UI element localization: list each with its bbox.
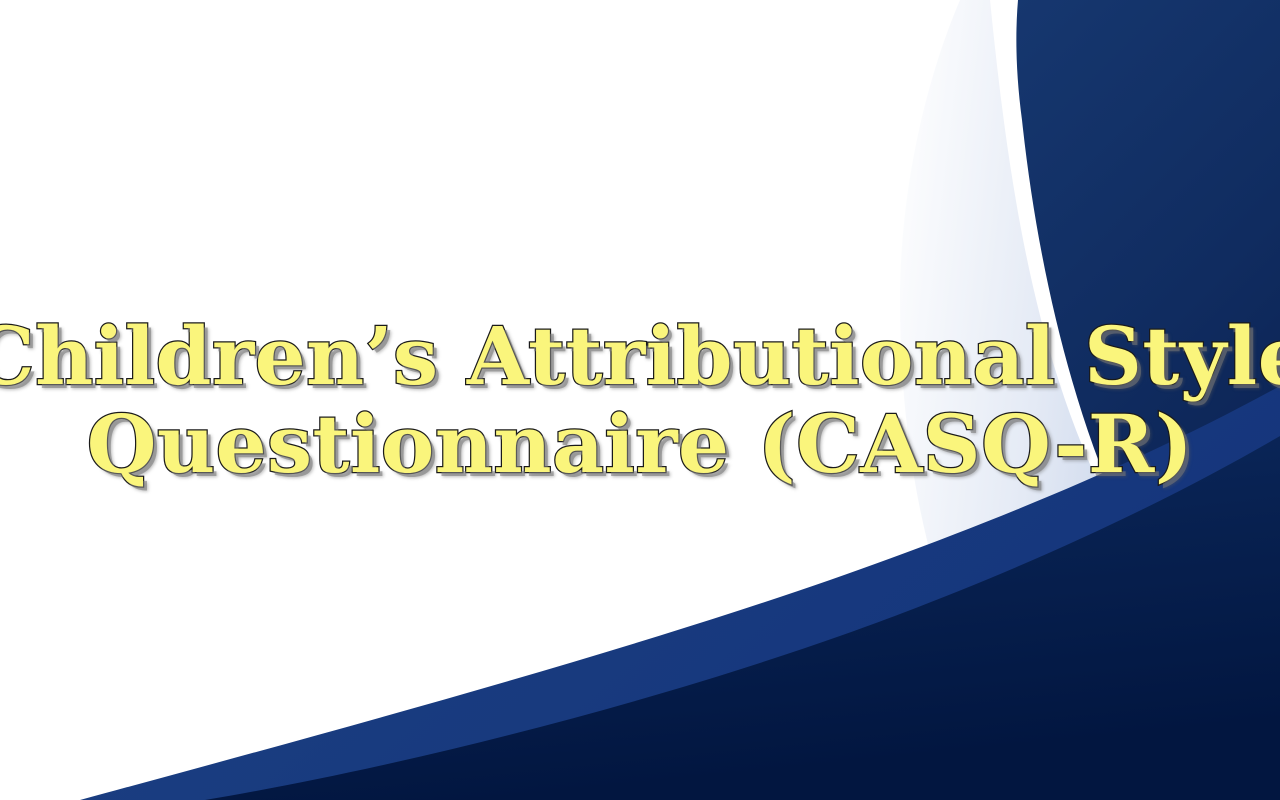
title-slide: Children’s Attributional Style Questionn… xyxy=(0,0,1280,800)
background-decoration xyxy=(0,0,1280,800)
